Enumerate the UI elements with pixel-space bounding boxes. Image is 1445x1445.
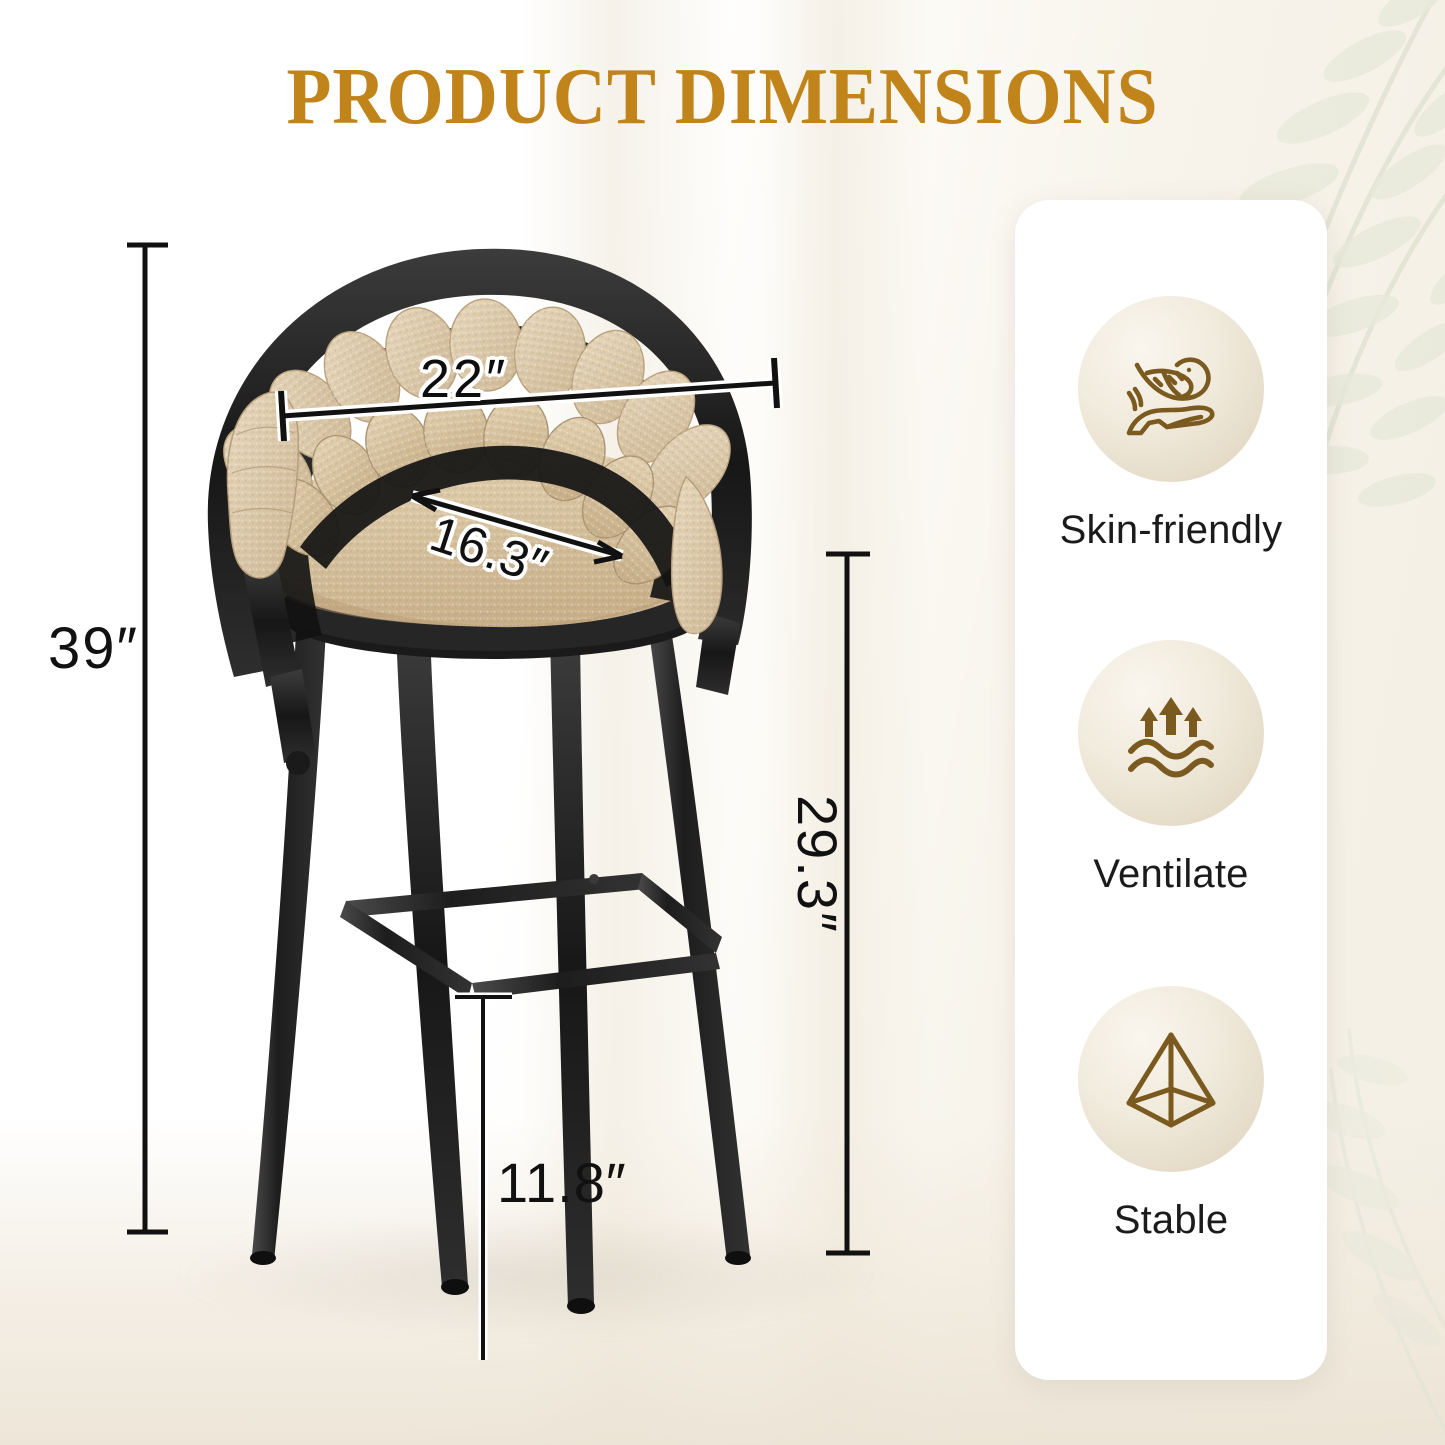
feature-icon-circle — [1078, 986, 1264, 1172]
feature-label: Ventilate — [1015, 852, 1327, 897]
feature-icon-circle — [1078, 296, 1264, 482]
airflow-waves-icon — [1111, 673, 1231, 793]
stool-footrest — [340, 873, 722, 999]
feature-item-stable: Stable — [1015, 986, 1327, 1243]
hand-holding-feather-icon — [1111, 329, 1231, 449]
feature-icon-circle — [1078, 640, 1264, 826]
feature-label: Skin-friendly — [1015, 508, 1327, 553]
feature-item-skin-friendly: Skin-friendly — [1015, 296, 1327, 553]
page-title: PRODUCT DIMENSIONS — [58, 52, 1387, 143]
product-dimensions-infographic: PRODUCT DIMENSIONS — [0, 0, 1445, 1445]
feature-panel: Skin-friendly — [1015, 200, 1327, 1380]
feature-item-ventilate: Ventilate — [1015, 640, 1327, 897]
wireframe-pyramid-icon — [1111, 1019, 1231, 1139]
feature-label: Stable — [1015, 1198, 1327, 1243]
product-illustration — [150, 225, 890, 1315]
